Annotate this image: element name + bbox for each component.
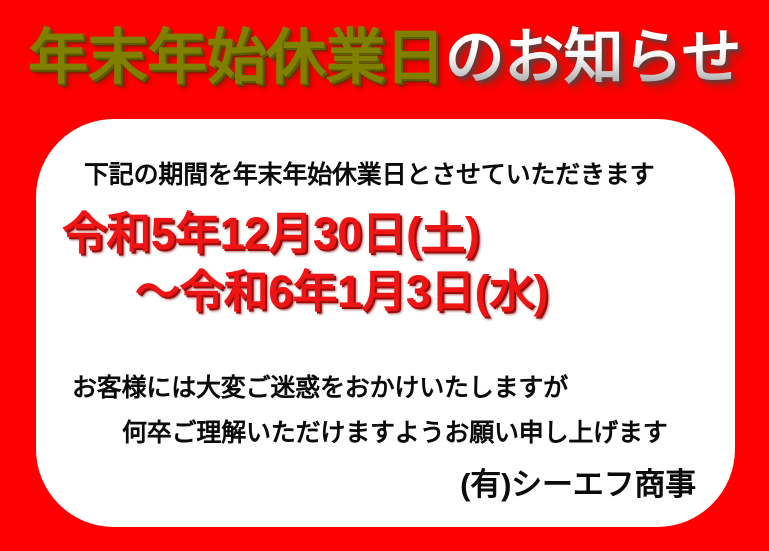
poster-title-primary: 年末年始休業日: [28, 24, 445, 91]
closure-period: 令和5年12月30日(土) 〜令和6年1月3日(水): [62, 205, 712, 321]
holiday-closure-notice-poster: 年末年始休業日のお知らせ 下記の期間を年末年始休業日とさせていただきます 令和5…: [0, 0, 769, 551]
apology-line-2: 何卒ご理解いただけますようお願い申し上げます: [72, 411, 722, 456]
notice-card: 下記の期間を年末年始休業日とさせていただきます 令和5年12月30日(土) 〜令…: [36, 119, 735, 527]
closure-start-date: 令和5年12月30日(土): [62, 205, 712, 263]
company-signature: (有)シーエフ商事: [36, 459, 696, 504]
poster-title-secondary: のお知らせ: [445, 24, 741, 91]
poster-title: 年末年始休業日のお知らせ: [0, 22, 769, 102]
apology-message: お客様には大変ご迷惑をおかけいたしますが 何卒ご理解いただけますようお願い申し上…: [72, 366, 722, 456]
closure-end-date: 〜令和6年1月3日(水): [62, 263, 712, 321]
notice-lead-text: 下記の期間を年末年始休業日とさせていただきます: [84, 155, 654, 191]
apology-line-1: お客様には大変ご迷惑をおかけいたしますが: [72, 366, 722, 411]
